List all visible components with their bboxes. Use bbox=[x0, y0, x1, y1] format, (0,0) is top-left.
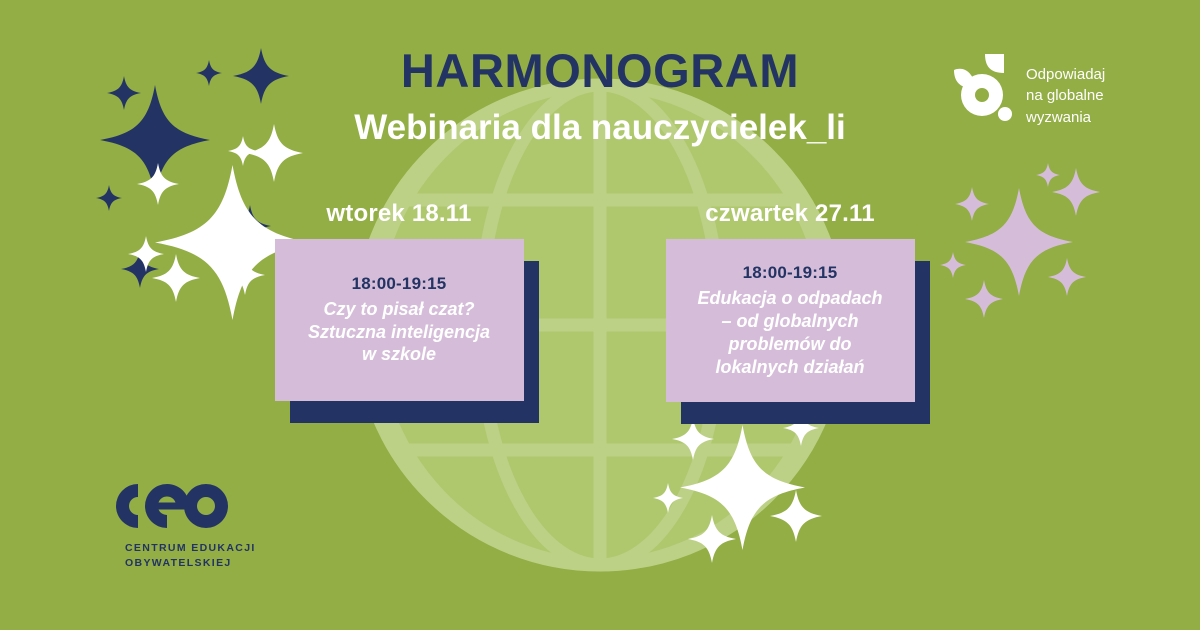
session-card-1[interactable]: wtorek 18.11 18:00-19:15 Czy to pisał cz… bbox=[249, 200, 549, 401]
sparkle-white-bottom-e bbox=[770, 490, 822, 542]
sparkle-lavender-small-b bbox=[1036, 163, 1060, 187]
session-day-1: wtorek 18.11 bbox=[249, 200, 549, 228]
session-topic-1: Czy to pisał czat? Sztuczna inteligencja… bbox=[289, 298, 510, 367]
session-card-2[interactable]: czwartek 27.11 18:00-19:15 Edukacja o od… bbox=[640, 200, 940, 402]
program-logo[interactable]: Odpowiadaj na globalne wyzwania bbox=[952, 50, 1105, 128]
sparkle-white-bottom-c bbox=[653, 483, 683, 513]
sparkle-navy-tiny bbox=[96, 185, 122, 211]
sparkle-lavender-small-c bbox=[940, 252, 966, 278]
session-time-2: 18:00-19:15 bbox=[680, 263, 901, 283]
ceo-wordmark-icon bbox=[110, 478, 228, 534]
ceo-logo-subtitle: CENTRUM EDUKACJI OBYWATELSKIEJ bbox=[125, 541, 330, 571]
session-card-wrapper-2: 18:00-19:15 Edukacja o odpadach – od glo… bbox=[666, 239, 915, 402]
sparkle-lavender-small-d bbox=[965, 280, 1003, 318]
poster-canvas: HARMONOGRAM Webinaria dla nauczycielek_l… bbox=[0, 0, 1200, 630]
session-card-wrapper-1: 18:00-19:15 Czy to pisał czat? Sztuczna … bbox=[275, 239, 524, 401]
session-topic-2: Edukacja o odpadach – od globalnych prob… bbox=[680, 287, 901, 378]
session-card-body-2: 18:00-19:15 Edukacja o odpadach – od glo… bbox=[666, 239, 915, 402]
sparkle-lavender-small-a bbox=[955, 187, 989, 221]
program-logo-icon bbox=[952, 52, 1014, 128]
sparkle-white-small-left-d bbox=[152, 254, 200, 302]
ceo-logo[interactable]: CENTRUM EDUKACJI OBYWATELSKIEJ bbox=[110, 478, 330, 571]
session-time-1: 18:00-19:15 bbox=[289, 274, 510, 294]
sparkle-white-small-left-a bbox=[137, 163, 179, 205]
sparkle-white-bottom-d bbox=[688, 515, 736, 563]
session-day-2: czwartek 27.11 bbox=[640, 200, 940, 228]
sparkle-lavender-small-e bbox=[1048, 258, 1086, 296]
session-card-body-1: 18:00-19:15 Czy to pisał czat? Sztuczna … bbox=[275, 239, 524, 401]
program-logo-text: Odpowiadaj na globalne wyzwania bbox=[1026, 64, 1105, 128]
